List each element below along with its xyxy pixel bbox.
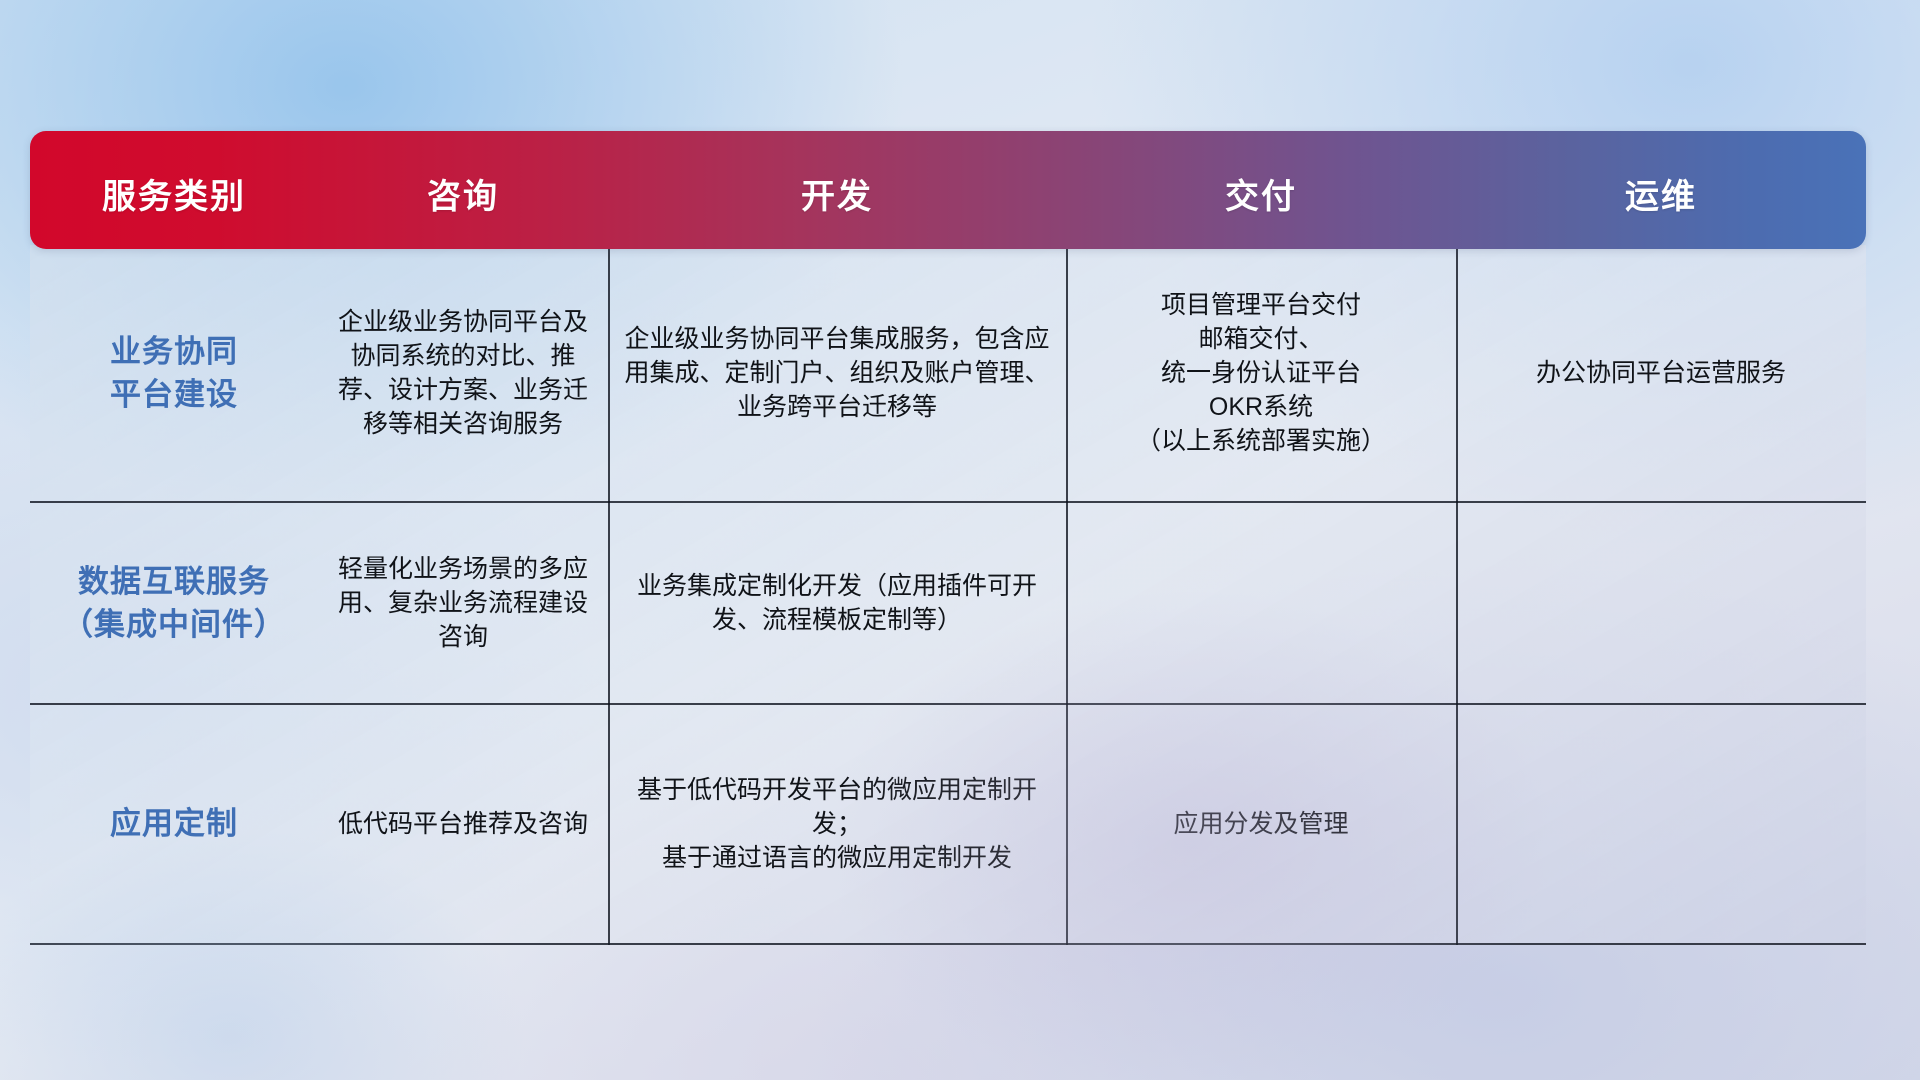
cell-operations: 办公协同平台运营服务 bbox=[1456, 245, 1866, 501]
row-category-label: 数据互联服务 （集成中间件） bbox=[30, 503, 318, 703]
cell-delivery: 项目管理平台交付 邮箱交付、 统一身份认证平台 OKR系统 （以上系统部署实施） bbox=[1066, 245, 1456, 501]
cell-consulting: 轻量化业务场景的多应用、复杂业务流程建设咨询 bbox=[318, 503, 608, 703]
table-body: 业务协同 平台建设 企业级业务协同平台及协同系统的对比、推荐、设计方案、业务迁移… bbox=[30, 245, 1866, 945]
slide-canvas: 服务类别 咨询 开发 交付 运维 业务协同 平台建设 企业级业务协同平台及协同系… bbox=[0, 0, 1920, 1080]
table-header-row: 服务类别 咨询 开发 交付 运维 bbox=[30, 131, 1866, 249]
row-category-label: 业务协同 平台建设 bbox=[30, 245, 318, 501]
cell-delivery: 应用分发及管理 bbox=[1066, 705, 1456, 943]
cell-consulting: 低代码平台推荐及咨询 bbox=[318, 705, 608, 943]
table-row: 应用定制 低代码平台推荐及咨询 基于低代码开发平台的微应用定制开发； 基于通过语… bbox=[30, 703, 1866, 943]
column-header-consulting: 咨询 bbox=[318, 131, 608, 249]
table-row: 数据互联服务 （集成中间件） 轻量化业务场景的多应用、复杂业务流程建设咨询 业务… bbox=[30, 501, 1866, 703]
column-header-development: 开发 bbox=[608, 131, 1066, 249]
table-row: 业务协同 平台建设 企业级业务协同平台及协同系统的对比、推荐、设计方案、业务迁移… bbox=[30, 245, 1866, 501]
cell-development: 业务集成定制化开发（应用插件可开发、流程模板定制等） bbox=[608, 503, 1066, 703]
column-header-category: 服务类别 bbox=[30, 131, 318, 249]
service-matrix-table: 服务类别 咨询 开发 交付 运维 业务协同 平台建设 企业级业务协同平台及协同系… bbox=[30, 131, 1866, 945]
cell-operations bbox=[1456, 503, 1866, 703]
row-category-label: 应用定制 bbox=[30, 705, 318, 943]
cell-development: 基于低代码开发平台的微应用定制开发； 基于通过语言的微应用定制开发 bbox=[608, 705, 1066, 943]
cell-operations bbox=[1456, 705, 1866, 943]
column-header-delivery: 交付 bbox=[1066, 131, 1456, 249]
cell-delivery bbox=[1066, 503, 1456, 703]
cell-consulting: 企业级业务协同平台及协同系统的对比、推荐、设计方案、业务迁移等相关咨询服务 bbox=[318, 245, 608, 501]
cell-development: 企业级业务协同平台集成服务，包含应用集成、定制门户、组织及账户管理、业务跨平台迁… bbox=[608, 245, 1066, 501]
column-header-operations: 运维 bbox=[1456, 131, 1866, 249]
